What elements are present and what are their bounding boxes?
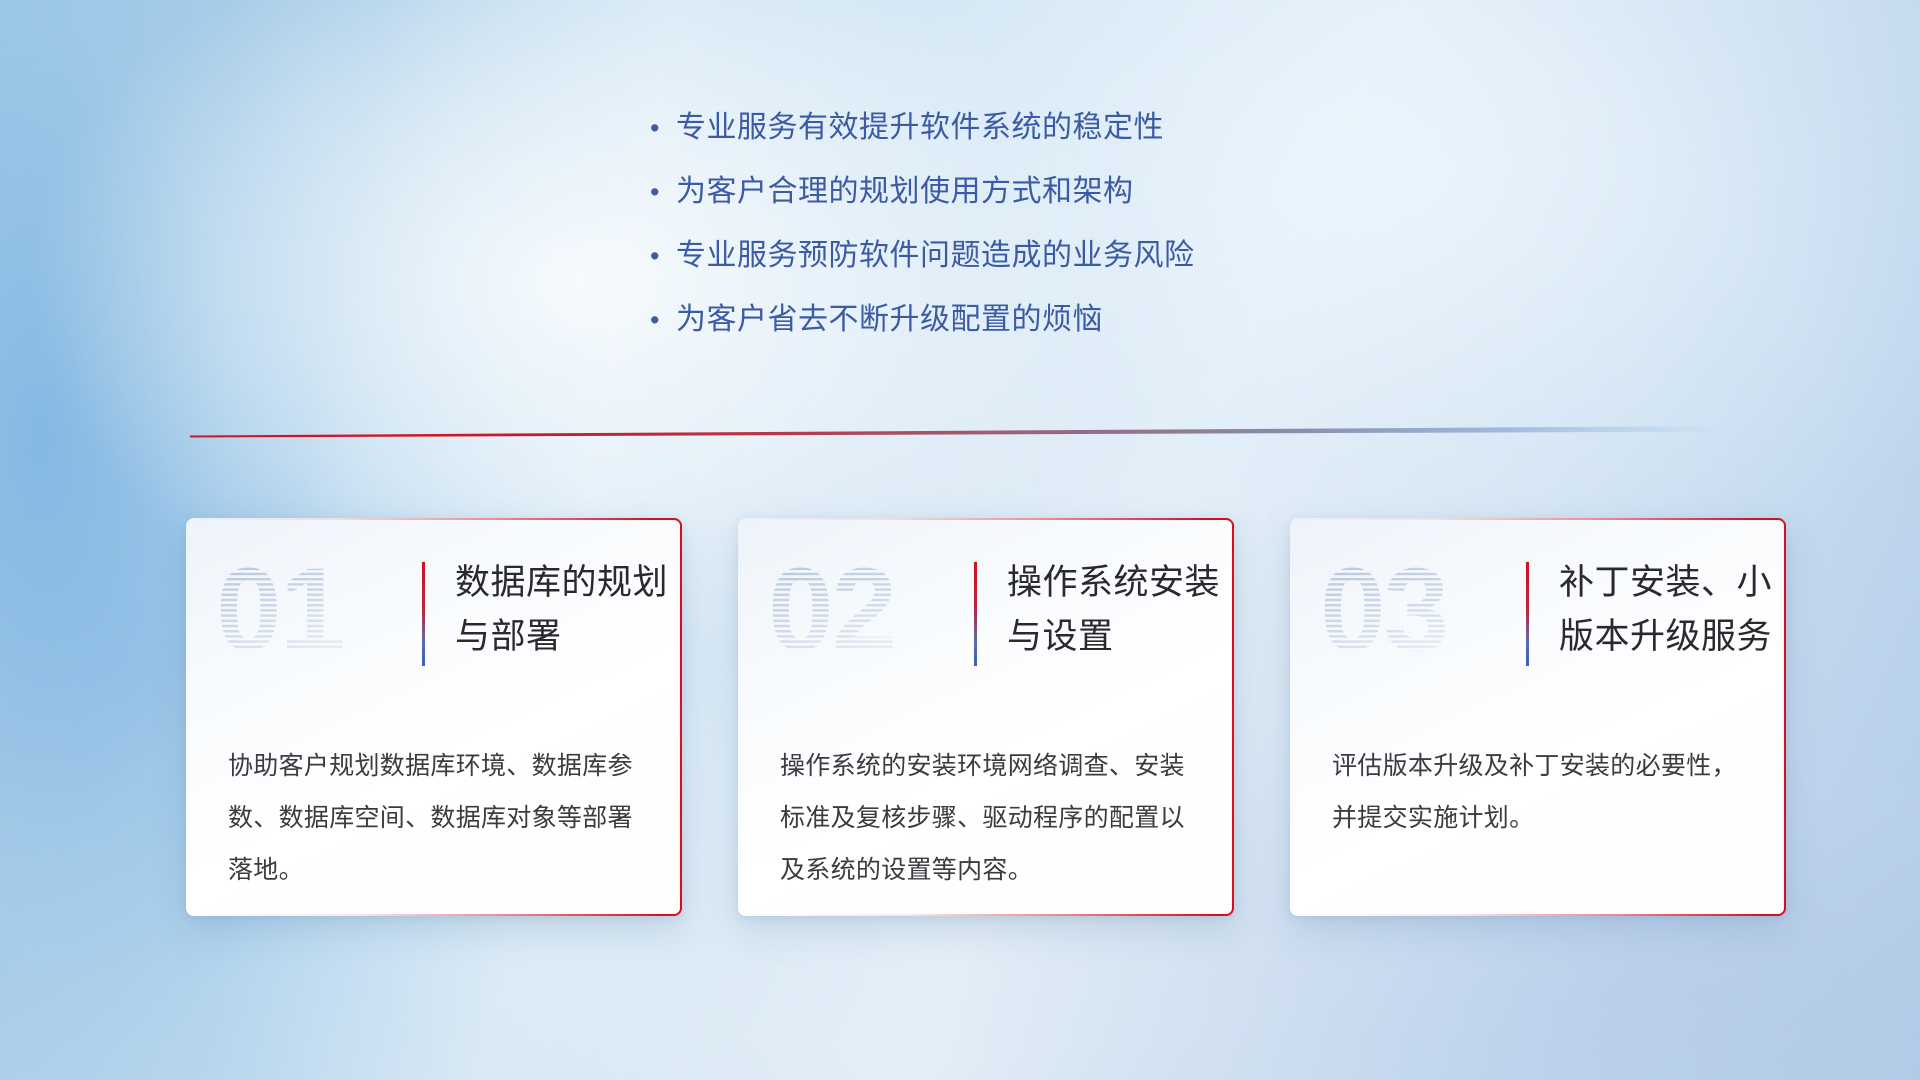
card-number-striped-graphic: 02 — [768, 552, 928, 668]
title-accent-bar — [422, 562, 425, 666]
benefits-bullet-list: • 专业服务有效提升软件系统的稳定性 • 为客户合理的规划使用方式和架构 • 专… — [650, 104, 1195, 360]
card-header: 03 补丁安装、小版本升级服务 — [1290, 518, 1786, 708]
card-number-striped-graphic: 01 — [216, 552, 376, 668]
card-title-group: 数据库的规划与部署 — [422, 556, 682, 666]
card-title: 数据库的规划与部署 — [455, 556, 682, 664]
card-description: 协助客户规划数据库环境、数据库参数、数据库空间、数据库对象等部署落地。 — [228, 740, 644, 896]
service-card[interactable]: 02 操作系统安装与设置 操作系统的安装环境网络调查、安装标准及复核步骤、驱动程… — [738, 518, 1234, 916]
bullet-dot-icon: • — [650, 168, 676, 216]
card-title: 补丁安装、小版本升级服务 — [1559, 556, 1786, 664]
card-title: 操作系统安装与设置 — [1007, 556, 1234, 664]
bullet-dot-icon: • — [650, 104, 676, 152]
list-item: • 为客户合理的规划使用方式和架构 — [650, 168, 1195, 232]
service-card[interactable]: 03 补丁安装、小版本升级服务 评估版本升级及补丁安装的必要性，并提交实施计划。 — [1290, 518, 1786, 916]
card-title-group: 操作系统安装与设置 — [974, 556, 1234, 666]
card-header: 02 操作系统安装与设置 — [738, 518, 1234, 708]
section-divider — [190, 424, 1735, 438]
card-title-group: 补丁安装、小版本升级服务 — [1526, 556, 1786, 666]
bullet-text: 为客户省去不断升级配置的烦恼 — [676, 296, 1103, 344]
service-card-list: 01 数据库的规划与部署 协助客户规划数据库环境、数据库参数、数据库空间、数据库… — [186, 518, 1786, 916]
list-item: • 专业服务预防软件问题造成的业务风险 — [650, 232, 1195, 296]
card-description: 评估版本升级及补丁安装的必要性，并提交实施计划。 — [1332, 740, 1748, 844]
title-accent-bar — [974, 562, 977, 666]
svg-text:02: 02 — [768, 552, 895, 668]
bullet-text: 专业服务预防软件问题造成的业务风险 — [676, 232, 1195, 280]
svg-text:01: 01 — [216, 552, 343, 668]
bullet-dot-icon: • — [650, 232, 676, 280]
svg-text:03: 03 — [1320, 552, 1447, 668]
bullet-text: 为客户合理的规划使用方式和架构 — [676, 168, 1134, 216]
bullet-text: 专业服务有效提升软件系统的稳定性 — [676, 104, 1164, 152]
service-card[interactable]: 01 数据库的规划与部署 协助客户规划数据库环境、数据库参数、数据库空间、数据库… — [186, 518, 682, 916]
card-number-striped-graphic: 03 — [1320, 552, 1480, 668]
card-description: 操作系统的安装环境网络调查、安装标准及复核步骤、驱动程序的配置以及系统的设置等内… — [780, 740, 1196, 896]
list-item: • 为客户省去不断升级配置的烦恼 — [650, 296, 1195, 360]
card-header: 01 数据库的规划与部署 — [186, 518, 682, 708]
list-item: • 专业服务有效提升软件系统的稳定性 — [650, 104, 1195, 168]
bullet-dot-icon: • — [650, 296, 676, 344]
title-accent-bar — [1526, 562, 1529, 666]
